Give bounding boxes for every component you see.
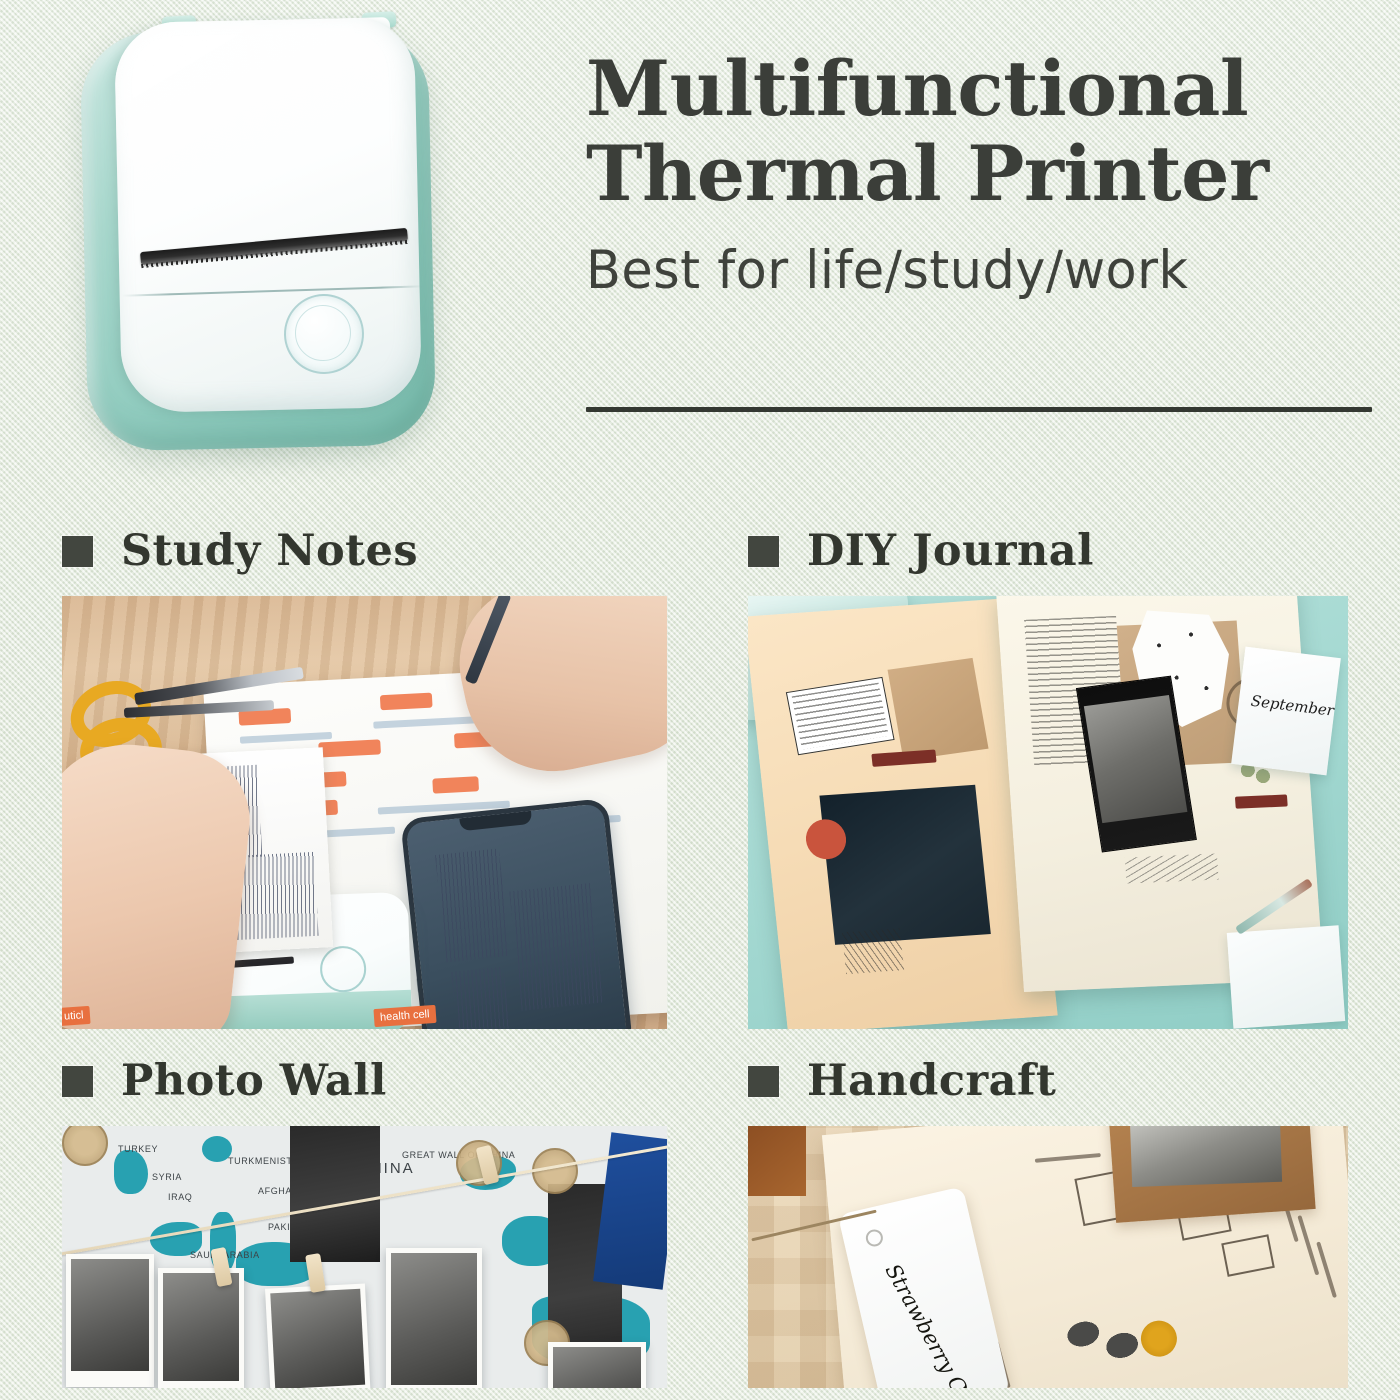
hand-holding-print [62,736,257,1029]
tag-hole [864,1228,884,1248]
smartphone-preview [400,798,632,1029]
product-poster: Multifunctional Thermal Printer Best for… [0,0,1400,1400]
power-button-icon [319,945,367,993]
feature-photo-study-notes: uticl health cell [62,596,667,1029]
feature-title-photo-wall: Photo Wall [121,1056,387,1106]
wood-floor-corner [748,1126,806,1196]
feature-cell-study-notes: Study Notes [62,520,667,1029]
square-bullet-icon [748,536,779,567]
headline-line-2: Thermal Printer [586,131,1372,216]
headline-line-1: Multifunctional [586,44,1248,133]
feature-header-photo-wall: Photo Wall [62,1050,667,1112]
hero-divider [586,407,1372,412]
feature-cell-diy-journal: DIY Journal [748,520,1348,1029]
map-label: IRAQ [168,1192,192,1202]
hero-section: Multifunctional Thermal Printer Best for… [0,0,1400,500]
september-sticker: September [1231,647,1341,776]
feature-title-diy-journal: DIY Journal [807,526,1094,576]
feature-row-bottom: Photo Wall TURKEY SYRIA IRAQ AFGHANISTAN [0,1050,1400,1400]
feature-title-handcraft: Handcraft [807,1056,1056,1106]
square-bullet-icon [62,536,93,567]
feature-row-top: Study Notes [0,520,1400,1050]
doodle-sticker [1227,925,1345,1029]
tag-label: Strawberry Cake [881,1260,990,1388]
feature-photo-handcraft: Strawberry Cake [748,1126,1348,1388]
feature-cell-handcraft: Handcraft [748,1050,1348,1388]
feature-title-study-notes: Study Notes [121,526,418,576]
feature-header-handcraft: Handcraft [748,1050,1348,1112]
printer-front-face [114,17,422,413]
feature-photo-diy-journal: September [748,596,1348,1029]
square-bullet-icon [748,1066,779,1097]
phone-notch [459,811,532,831]
photo-tag: uticl [62,1006,90,1026]
feature-photo-photo-wall: TURKEY SYRIA IRAQ AFGHANISTAN TURKMENIST… [62,1126,667,1388]
feature-cell-photo-wall: Photo Wall TURKEY SYRIA IRAQ AFGHANISTAN [62,1050,667,1388]
printed-photo [1129,1126,1282,1187]
map-label: SYRIA [152,1172,182,1182]
cork-clipboard [1108,1126,1315,1223]
hero-subtitle: Best for life/study/work [586,242,1341,300]
map-label: TURKEY [118,1144,158,1154]
feature-header-study-notes: Study Notes [62,520,667,582]
product-image-thermal-printer [62,8,482,478]
feature-grid: Study Notes [0,520,1400,1400]
sticker-label: September [1250,692,1335,720]
printer-highlight [114,17,398,214]
page-title: Multifunctional Thermal Printer [586,46,1372,216]
square-bullet-icon [62,1066,93,1097]
feature-header-diy-journal: DIY Journal [748,520,1348,582]
hero-text-block: Multifunctional Thermal Printer Best for… [586,46,1372,301]
